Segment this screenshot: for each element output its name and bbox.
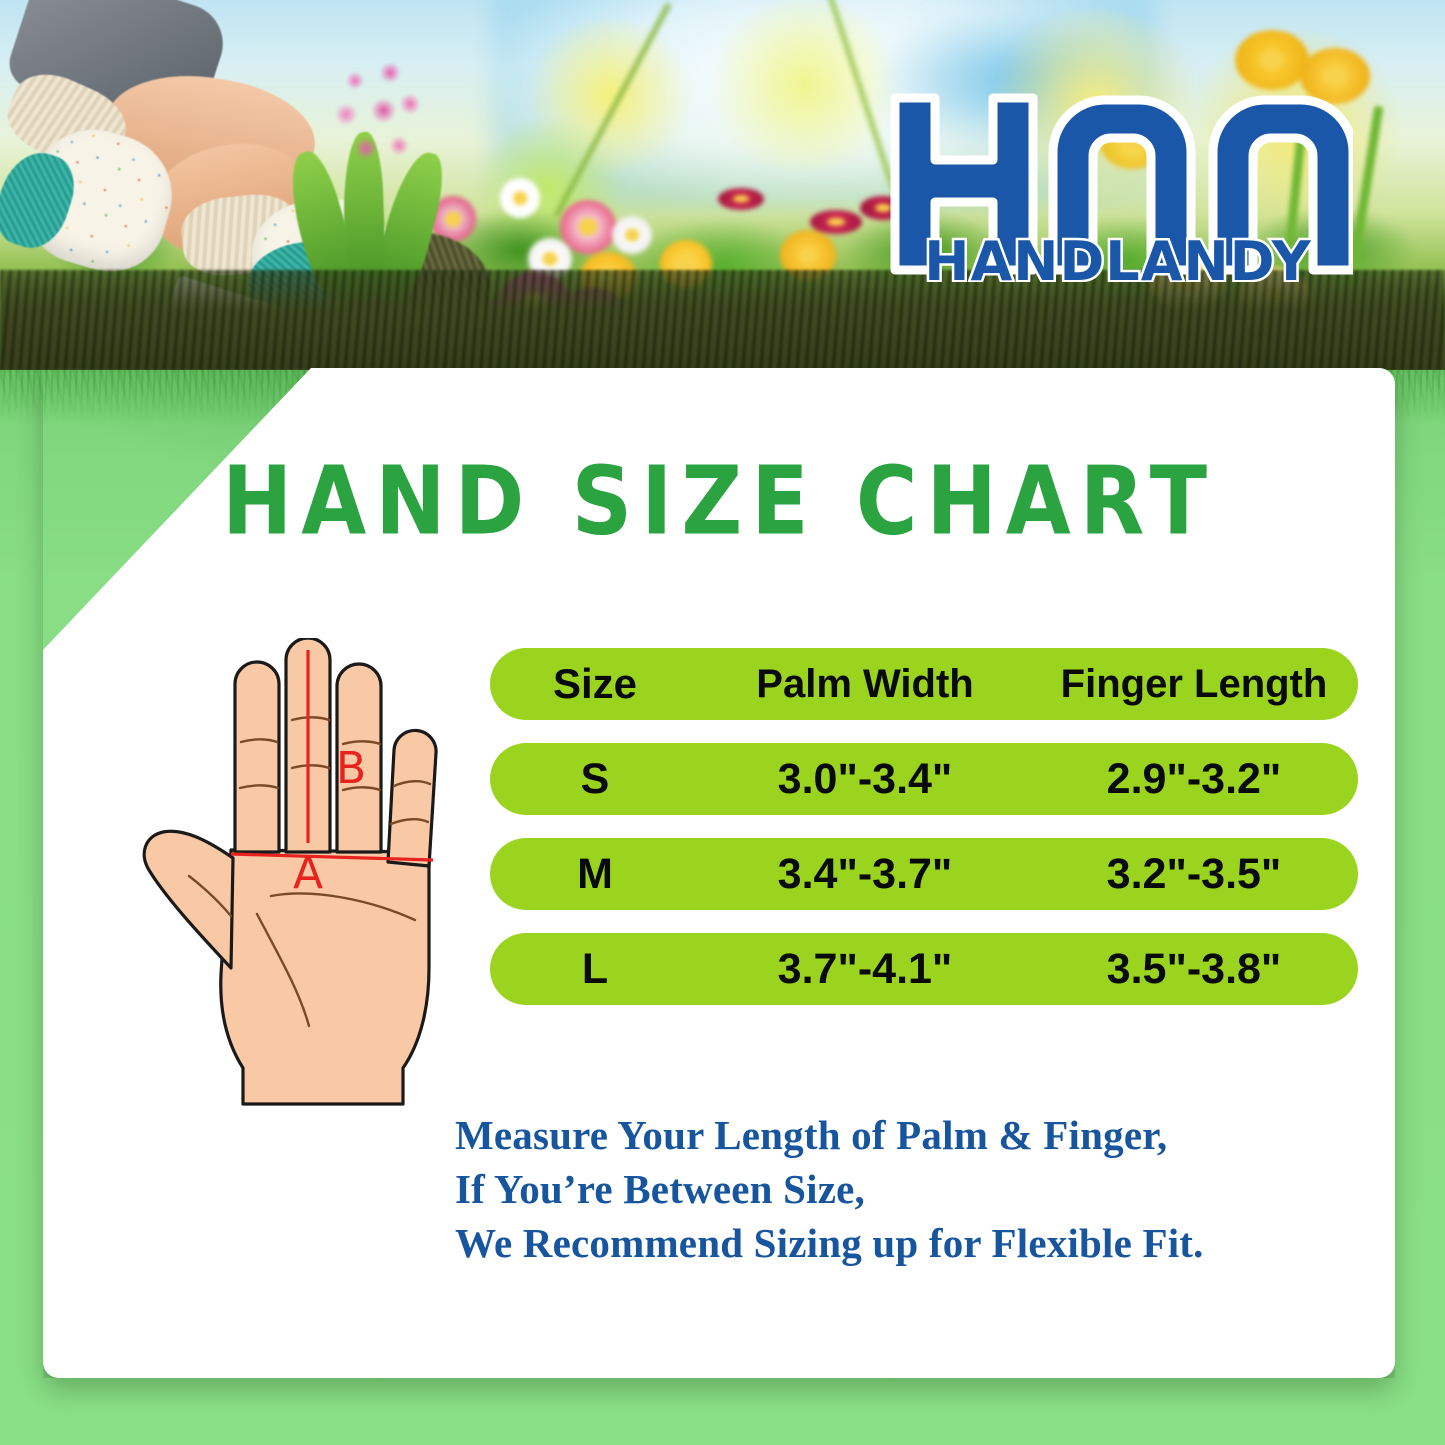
cell-size: M: [490, 850, 700, 899]
brand-logo[interactable]: HANDLANDY: [883, 92, 1353, 282]
logo-wordmark: HANDLANDY: [924, 230, 1311, 282]
cell-palm-width: 3.7"-4.1": [700, 945, 1030, 994]
cell-size: S: [490, 755, 700, 804]
sizing-note: Measure Your Length of Palm & Finger, If…: [455, 1108, 1355, 1270]
table-header-row: Size Palm Width Finger Length: [490, 648, 1358, 720]
table-row: S 3.0"-3.4" 2.9"-3.2": [490, 743, 1358, 815]
size-chart-card: HAND SIZE CHART: [43, 368, 1395, 1378]
size-table: Size Palm Width Finger Length S 3.0"-3.4…: [490, 648, 1358, 1028]
palm-shape: [221, 850, 429, 1104]
cell-finger-length: 3.2"-3.5": [1030, 850, 1358, 899]
cell-finger-length: 3.5"-3.8": [1030, 945, 1358, 994]
hyacinth-bloom: [322, 52, 432, 182]
palm-width-label: A: [293, 848, 323, 899]
cell-finger-length: 2.9"-3.2": [1030, 755, 1358, 804]
index-finger: [235, 662, 279, 852]
page-title: HAND SIZE CHART: [43, 446, 1395, 556]
hand-measurement-diagram: B A: [103, 638, 493, 1108]
header-size: Size: [490, 660, 700, 708]
finger-length-label: B: [336, 743, 366, 794]
table-row: L 3.7"-4.1" 3.5"-3.8": [490, 933, 1358, 1005]
pinky-finger: [388, 730, 436, 866]
note-line-3: We Recommend Sizing up for Flexible Fit.: [455, 1216, 1355, 1270]
note-line-1: Measure Your Length of Palm & Finger,: [455, 1108, 1355, 1162]
size-chart-page: HANDLANDY HAND SIZE CHART: [0, 0, 1445, 1445]
header-palm-width: Palm Width: [700, 662, 1030, 707]
table-row: M 3.4"-3.7" 3.2"-3.5": [490, 838, 1358, 910]
soil-strip: [0, 270, 1445, 370]
note-line-2: If You’re Between Size,: [455, 1162, 1355, 1216]
cell-palm-width: 3.0"-3.4": [700, 755, 1030, 804]
header-finger-length: Finger Length: [1030, 662, 1358, 707]
cell-size: L: [490, 945, 700, 994]
cell-palm-width: 3.4"-3.7": [700, 850, 1030, 899]
thumb: [144, 831, 233, 968]
